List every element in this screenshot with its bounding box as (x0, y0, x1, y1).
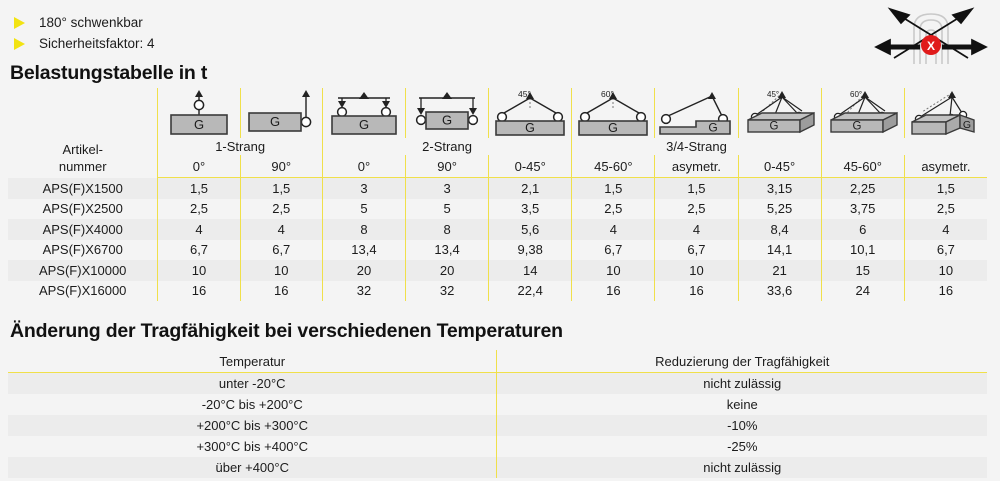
article-number: APS(F)X2500 (8, 199, 158, 220)
cell-value: 16 (240, 281, 322, 302)
cell-value: 20 (322, 260, 405, 281)
cell-value: 16 (158, 281, 240, 302)
cell-value: 13,4 (322, 240, 405, 261)
svg-text:45°: 45° (767, 90, 779, 99)
subheader-4: 0-45° (489, 155, 572, 178)
triangle-bullet-icon (14, 38, 25, 50)
marker-label: X (927, 39, 935, 53)
cell-value: 32 (322, 281, 405, 302)
svg-text:G: G (963, 119, 971, 131)
cell-value: 2,1 (489, 178, 572, 199)
cell-value: 6,7 (240, 240, 322, 261)
group-header-1strang: 1-Strang (158, 138, 323, 155)
cell-value: 4 (240, 219, 322, 240)
temperature-column-header: Temperatur (8, 350, 497, 373)
cell-value: 10,1 (821, 240, 904, 261)
cell-value: 6,7 (158, 240, 240, 261)
cell-value: 3 (406, 178, 489, 199)
list-item: Sicherheitsfaktor: 4 (0, 33, 155, 54)
cell-value: 10 (904, 260, 987, 281)
subheader-1: 90° (240, 155, 322, 178)
cell-value: 2,5 (572, 199, 655, 220)
temperature-value: unter -20°C (8, 373, 497, 395)
subheader-6: asymetr. (655, 155, 738, 178)
svg-text:G: G (525, 121, 535, 135)
reduction-value: -10% (497, 415, 987, 436)
cell-value: 22,4 (489, 281, 572, 302)
table-row: APS(F)X4000 4 4 8 8 5,6 4 4 8,4 6 4 (8, 219, 987, 240)
group-header-2strang: 2-Strang (322, 138, 571, 155)
svg-text:G: G (709, 121, 718, 135)
article-number-header: Artikel- nummer (8, 138, 158, 178)
svg-text:G: G (852, 121, 861, 133)
temperature-header-row: Temperatur Reduzierung der Tragfähigkeit (8, 350, 987, 373)
cell-value: 14 (489, 260, 572, 281)
svg-text:G: G (769, 121, 778, 133)
diagram-2strang-45-60: 60° G (572, 88, 655, 138)
triangle-bullet-icon (14, 17, 25, 29)
cell-value: 16 (655, 281, 738, 302)
cell-value: 8 (322, 219, 405, 240)
cell-value: 13,4 (406, 240, 489, 261)
page-title-load-table: Belastungstabelle in t (10, 62, 207, 85)
reduction-value: nicht zulässig (497, 457, 987, 478)
temperature-value: -20°C bis +200°C (8, 394, 497, 415)
temperature-reduction-table: Temperatur Reduzierung der Tragfähigkeit… (8, 350, 987, 478)
table-row: +200°C bis +300°C -10% (8, 415, 987, 436)
cell-value: 5,25 (738, 199, 821, 220)
svg-text:G: G (270, 114, 280, 129)
table-row: +300°C bis +400°C -25% (8, 436, 987, 457)
cell-value: 1,5 (158, 178, 240, 199)
cell-value: 2,5 (655, 199, 738, 220)
cell-value: 21 (738, 260, 821, 281)
svg-text:G: G (608, 121, 618, 135)
article-number: APS(F)X1500 (8, 178, 158, 199)
empty-corner-cell (8, 88, 158, 138)
cell-value: 4 (655, 219, 738, 240)
diagram-4strang-asym: G (904, 88, 987, 138)
cell-value: 6,7 (655, 240, 738, 261)
cell-value: 1,5 (655, 178, 738, 199)
cell-value: 15 (821, 260, 904, 281)
bullet-label: Sicherheitsfaktor: 4 (39, 36, 155, 51)
cell-value: 3,75 (821, 199, 904, 220)
cell-value: 10 (655, 260, 738, 281)
group-header-34strang: 3/4-Strang (572, 138, 821, 155)
subheader-9: asymetr. (904, 155, 987, 178)
table-row: APS(F)X2500 2,5 2,5 5 5 3,5 2,5 2,5 5,25… (8, 199, 987, 220)
cell-value: 4 (572, 219, 655, 240)
group-header-row: Artikel- nummer 1-Strang 2-Strang 3/4-St… (8, 138, 987, 155)
cell-value: 16 (572, 281, 655, 302)
diagram-2strang-0-45: 45° G (489, 88, 572, 138)
diagram-1strang-90: G (240, 88, 322, 138)
subheader-2: 0° (322, 155, 405, 178)
diagram-2strang-0: G (322, 88, 405, 138)
article-number: APS(F)X16000 (8, 281, 158, 302)
subheader-0: 0° (158, 155, 240, 178)
cell-value: 8,4 (738, 219, 821, 240)
article-number: APS(F)X6700 (8, 240, 158, 261)
reduction-column-header: Reduzierung der Tragfähigkeit (497, 350, 987, 373)
cell-value: 2,25 (821, 178, 904, 199)
cell-value: 6 (821, 219, 904, 240)
group-header-spacer (821, 138, 904, 155)
cell-value: 2,5 (904, 199, 987, 220)
table-row: unter -20°C nicht zulässig (8, 373, 987, 395)
cell-value: 16 (904, 281, 987, 302)
table-row: über +400°C nicht zulässig (8, 457, 987, 478)
cell-value: 10 (158, 260, 240, 281)
cell-value: 6,7 (572, 240, 655, 261)
cell-value: 1,5 (572, 178, 655, 199)
cell-value: 1,5 (240, 178, 322, 199)
cell-value: 5 (322, 199, 405, 220)
cell-value: 4 (158, 219, 240, 240)
page-title-temperature-table: Änderung der Tragfähigkeit bei verschied… (10, 320, 563, 343)
bullet-label: 180° schwenkbar (39, 15, 143, 30)
cell-value: 9,38 (489, 240, 572, 261)
reduction-value: nicht zulässig (497, 373, 987, 395)
temperature-value: +300°C bis +400°C (8, 436, 497, 457)
cell-value: 20 (406, 260, 489, 281)
table-row: APS(F)X1500 1,5 1,5 3 3 2,1 1,5 1,5 3,15… (8, 178, 987, 199)
cell-value: 10 (240, 260, 322, 281)
article-number: APS(F)X10000 (8, 260, 158, 281)
reduction-value: keine (497, 394, 987, 415)
cell-value: 5,6 (489, 219, 572, 240)
cell-value: 1,5 (904, 178, 987, 199)
diagram-2strang-90: G (406, 88, 489, 138)
svg-text:60°: 60° (850, 90, 862, 99)
lifting-point-multidirectional-icon: X (868, 2, 994, 64)
feature-bullet-list: 180° schwenkbar Sicherheitsfaktor: 4 (0, 12, 155, 54)
cell-value: 6,7 (904, 240, 987, 261)
cell-value: 2,5 (240, 199, 322, 220)
cell-value: 3,15 (738, 178, 821, 199)
cell-value: 5 (406, 199, 489, 220)
table-row: APS(F)X16000 16 16 32 32 22,4 16 16 33,6… (8, 281, 987, 302)
cell-value: 32 (406, 281, 489, 302)
diagram-2strang-asym: G (655, 88, 738, 138)
reduction-value: -25% (497, 436, 987, 457)
cell-value: 10 (572, 260, 655, 281)
temperature-value: über +400°C (8, 457, 497, 478)
svg-text:G: G (442, 113, 452, 128)
subheader-3: 90° (406, 155, 489, 178)
cell-value: 33,6 (738, 281, 821, 302)
list-item: 180° schwenkbar (0, 12, 155, 33)
table-row: APS(F)X6700 6,7 6,7 13,4 13,4 9,38 6,7 6… (8, 240, 987, 261)
subheader-7: 0-45° (738, 155, 821, 178)
cell-value: 3,5 (489, 199, 572, 220)
cell-value: 2,5 (158, 199, 240, 220)
diagram-1strang-0: G (158, 88, 240, 138)
cell-value: 4 (904, 219, 987, 240)
temperature-value: +200°C bis +300°C (8, 415, 497, 436)
subheader-5: 45-60° (572, 155, 655, 178)
table-row: APS(F)X10000 10 10 20 20 14 10 10 21 15 … (8, 260, 987, 281)
diagram-row: G G G (8, 88, 987, 138)
article-number: APS(F)X4000 (8, 219, 158, 240)
svg-text:G: G (359, 117, 369, 132)
cell-value: 8 (406, 219, 489, 240)
diagram-4strang-0-45: 45° G (738, 88, 821, 138)
cell-value: 3 (322, 178, 405, 199)
diagram-4strang-45-60: 60° G (821, 88, 904, 138)
cell-value: 24 (821, 281, 904, 302)
subheader-8: 45-60° (821, 155, 904, 178)
table-row: -20°C bis +200°C keine (8, 394, 987, 415)
load-capacity-table: G G G (8, 88, 987, 301)
cell-value: 14,1 (738, 240, 821, 261)
svg-text:G: G (194, 117, 204, 132)
